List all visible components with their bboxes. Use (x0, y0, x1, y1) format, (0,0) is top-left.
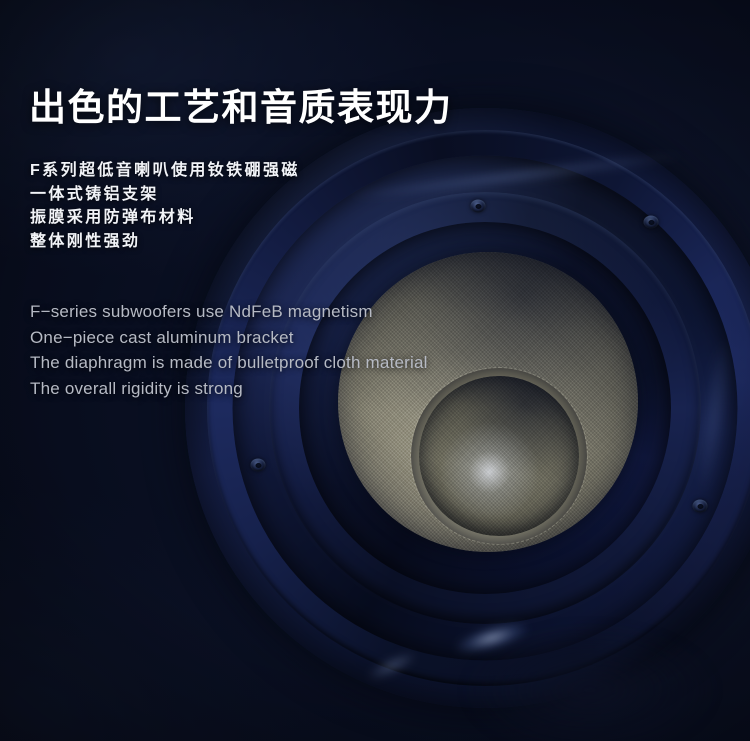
promo-banner: 出色的工艺和音质表现力 F系列超低音喇叭使用钕铁硼强磁 一体式铸铝支架 振膜采用… (0, 0, 750, 741)
feature-cn-2: 一体式铸铝支架 (30, 183, 300, 207)
feature-en-1: F−series subwoofers use NdFeB magnetism (30, 299, 428, 325)
features-list-english: F−series subwoofers use NdFeB magnetism … (30, 299, 428, 401)
feature-en-4: The overall rigidity is strong (30, 376, 428, 402)
frame-screw-bottom-right (693, 500, 708, 513)
dustcap-stitch-line (410, 367, 588, 545)
frame-screw-left (251, 459, 266, 472)
feature-en-2: One−piece cast aluminum bracket (30, 325, 428, 351)
feature-cn-1: F系列超低音喇叭使用钕铁硼强磁 (30, 159, 300, 183)
features-list-chinese: F系列超低音喇叭使用钕铁硼强磁 一体式铸铝支架 振膜采用防弹布材料 整体刚性强劲 (30, 159, 300, 253)
frame-screw-top-left (471, 200, 486, 213)
feature-cn-4: 整体刚性强劲 (30, 230, 300, 254)
feature-en-3: The diaphragm is made of bulletproof clo… (30, 350, 428, 376)
feature-cn-3: 振膜采用防弹布材料 (30, 206, 300, 230)
page-title: 出色的工艺和音质表现力 (29, 86, 453, 130)
frame-screw-top-right (644, 216, 659, 229)
